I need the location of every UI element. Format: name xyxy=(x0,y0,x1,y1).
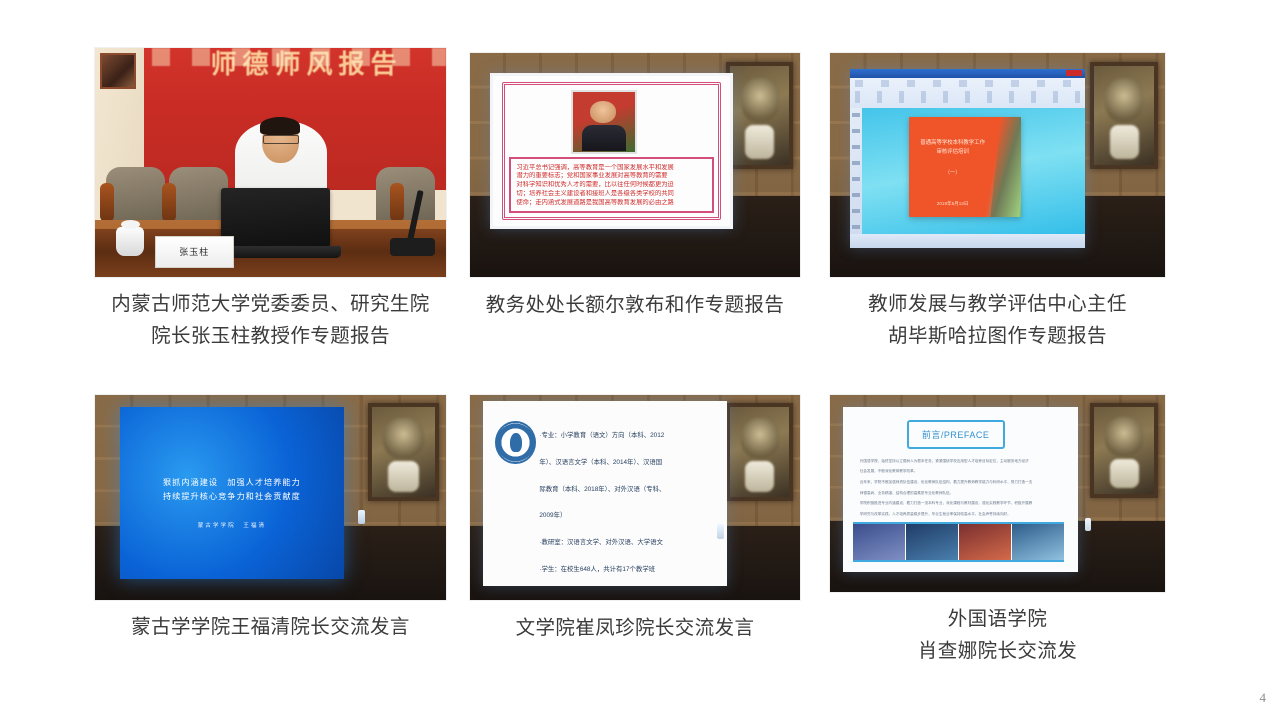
strip-photo xyxy=(906,524,958,560)
powerpoint-slide-panel xyxy=(850,108,862,233)
university-logo-icon xyxy=(495,421,536,464)
caption-2: 教务处处长额尔敦布和作专题报告 xyxy=(470,290,800,322)
powerpoint-titlebar xyxy=(850,69,1085,78)
portrait-frame-icon xyxy=(1090,62,1158,169)
slide-title: 狠抓内涵建设 加强人才培养能力 持续提升核心竞争力和社会贡献度 xyxy=(138,476,327,504)
projection-screen: 普通高等学校本科教学工作 审核评估培训 （一） 2019年5月13日 xyxy=(850,69,1085,248)
page-number: 4 xyxy=(1260,690,1267,706)
nameplate: 张玉柱 xyxy=(155,236,234,268)
photo-projection-report[interactable]: 习近平总书记强调，高等教育是一个国家发展水平和发展 潜力的重要标志；党和国家事业… xyxy=(470,53,800,277)
chair xyxy=(106,167,166,222)
water-bottle-icon xyxy=(358,510,366,524)
caption-4: 蒙古学学院王福清院长交流发言 xyxy=(95,612,446,644)
slide-canvas: 普通高等学校本科教学工作 审核评估培训 （一） 2019年5月13日 xyxy=(909,117,1022,217)
gallery-item-3[interactable]: 普通高等学校本科教学工作 审核评估培训 （一） 2019年5月13日 教师发展与… xyxy=(830,53,1165,352)
photo-powerpoint-projection[interactable]: 普通高等学校本科教学工作 审核评估培训 （一） 2019年5月13日 xyxy=(830,53,1165,277)
banner-text: 师德师风报告 xyxy=(211,48,403,81)
gallery-item-6[interactable]: 前言/PREFACE 外国语学院，始终坚持以立德树人为根本任务，紧紧围绕学校应用… xyxy=(830,395,1165,667)
portrait-frame-icon xyxy=(726,403,793,501)
caption-3: 教师发展与教学评估中心主任 胡毕斯哈拉图作专题报告 xyxy=(830,289,1165,352)
caption-1: 内蒙古师范大学党委委员、研究生院 院长张玉柱教授作专题报告 xyxy=(95,289,446,352)
photo-blue-slide-talk[interactable]: 狠抓内涵建设 加强人才培养能力 持续提升核心竞争力和社会贡献度 蒙古学学院 王福… xyxy=(95,395,446,600)
slide-portrait-photo xyxy=(571,90,637,154)
strip-photo xyxy=(959,524,1011,560)
speaker-hair xyxy=(260,117,300,135)
water-bottle-icon xyxy=(717,524,724,538)
powerpoint-ribbon xyxy=(850,78,1085,108)
caption-5: 文学院崔凤珍院长交流发言 xyxy=(470,613,800,645)
armrest xyxy=(162,183,176,222)
photo-bullet-slide-talk[interactable]: ·专业：小学教育（语文）方向（本科、2012 年）、汉语言文学（本科、2014年… xyxy=(470,395,800,600)
portrait-frame-icon xyxy=(1090,403,1158,498)
wall-frame-icon xyxy=(100,53,136,89)
projection-screen: 狠抓内涵建设 加强人才培养能力 持续提升核心竞争力和社会贡献度 蒙古学学院 王福… xyxy=(120,407,345,579)
slide-photo-strip xyxy=(853,522,1064,562)
portrait-frame-icon xyxy=(368,403,439,501)
powerpoint-statusbar xyxy=(850,234,1085,248)
glasses-icon xyxy=(263,135,298,144)
projection-screen: 前言/PREFACE 外国语学院，始终坚持以立德树人为根本任务，紧紧围绕学校应用… xyxy=(843,407,1078,572)
teacup-icon xyxy=(116,227,144,257)
gallery-item-2[interactable]: 习近平总书记强调，高等教育是一个国家发展水平和发展 潜力的重要标志；党和国家事业… xyxy=(470,53,800,322)
strip-photo xyxy=(1012,524,1064,560)
slide-bullet-list: ·专业：小学教育（语文）方向（本科、2012 年）、汉语言文学（本科、2014年… xyxy=(539,431,717,575)
chair xyxy=(169,167,229,222)
microphone-base xyxy=(390,238,436,256)
photo-preface-slide-talk[interactable]: 前言/PREFACE 外国语学院，始终坚持以立德树人为根本任务，紧紧围绕学校应用… xyxy=(830,395,1165,592)
chair xyxy=(376,167,436,222)
water-bottle-icon xyxy=(1085,518,1092,531)
projection-screen: 习近平总书记强调，高等教育是一个国家发展水平和发展 潜力的重要标志；党和国家事业… xyxy=(490,73,734,229)
slide-text-block: 习近平总书记强调，高等教育是一个国家发展水平和发展 潜力的重要标志；党和国家事业… xyxy=(509,157,713,213)
caption-6: 外国语学院 肖查娜院长交流发 xyxy=(830,604,1165,667)
presentation-slide: 师德师风报告 张玉柱 内蒙古师范大学党委委员、研究生院 院长张玉柱教授作专题报告 xyxy=(0,0,1280,720)
gallery-item-1[interactable]: 师德师风报告 张玉柱 内蒙古师范大学党委委员、研究生院 院长张玉柱教授作专题报告 xyxy=(95,48,446,352)
slide-paragraphs: 外国语学院，始终坚持以立德树人为根本任务，紧紧围绕学校应用型人才培养目标定位，主… xyxy=(860,453,1062,522)
photo-speaker-desk[interactable]: 师德师风报告 张玉柱 xyxy=(95,48,446,277)
armrest xyxy=(100,183,114,222)
slide-heading-box: 前言/PREFACE xyxy=(907,420,1005,449)
gallery-item-5[interactable]: ·专业：小学教育（语文）方向（本科、2012 年）、汉语言文学（本科、2014年… xyxy=(470,395,800,645)
nameplate-text: 张玉柱 xyxy=(179,245,209,258)
slide-subtitle: 蒙古学学院 王福清 xyxy=(138,521,327,529)
slide-heading-text: 前言/PREFACE xyxy=(922,428,990,441)
gallery-item-4[interactable]: 狠抓内涵建设 加强人才培养能力 持续提升核心竞争力和社会贡献度 蒙古学学院 王福… xyxy=(95,395,446,644)
projection-screen: ·专业：小学教育（语文）方向（本科、2012 年）、汉语言文学（本科、2014年… xyxy=(483,401,727,586)
portrait-frame-icon xyxy=(726,62,793,169)
strip-photo xyxy=(853,524,905,560)
armrest xyxy=(390,183,404,222)
laptop-icon xyxy=(221,188,330,248)
